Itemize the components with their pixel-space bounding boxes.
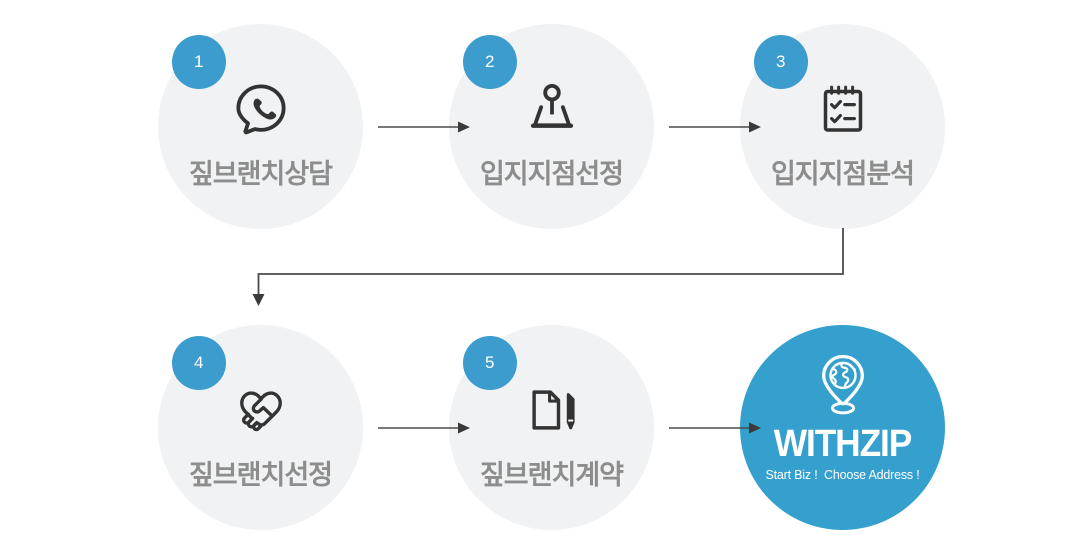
arrow-step3-to-step4: [250, 228, 852, 312]
process-step-1[interactable]: 1 짚브랜치상담: [158, 24, 363, 229]
step-label-4: 짚브랜치선정: [158, 453, 363, 492]
step-label-2: 입지지점선정: [449, 152, 654, 191]
step-number-badge-5: 5: [463, 336, 517, 390]
step-label-1: 짚브랜치상담: [158, 152, 363, 191]
brand-wordmark: WITHZIP: [747, 425, 938, 463]
process-step-5[interactable]: 5 짚브랜치계약: [449, 325, 654, 530]
step-number-badge-4: 4: [172, 336, 226, 390]
result-node-withzip[interactable]: WITHZIP Start Biz ! Choose Address !: [740, 325, 945, 530]
globe-pin-icon: [740, 351, 945, 421]
process-flow-diagram: 1 짚브랜치상담 2 입지지점선정: [0, 0, 1074, 543]
process-step-4[interactable]: 4 짚브랜치선정: [158, 325, 363, 530]
process-step-2[interactable]: 2 입지지점선정: [449, 24, 654, 229]
step-label-3: 입지지점분석: [740, 152, 945, 191]
step-label-5: 짚브랜치계약: [449, 453, 654, 492]
step-number-badge-3: 3: [754, 35, 808, 89]
step-number-badge-1: 1: [172, 35, 226, 89]
brand-tagline: Start Biz ! Choose Address !: [740, 468, 945, 482]
step-number-badge-2: 2: [463, 35, 517, 89]
process-step-3[interactable]: 3 입지지점분석: [740, 24, 945, 229]
